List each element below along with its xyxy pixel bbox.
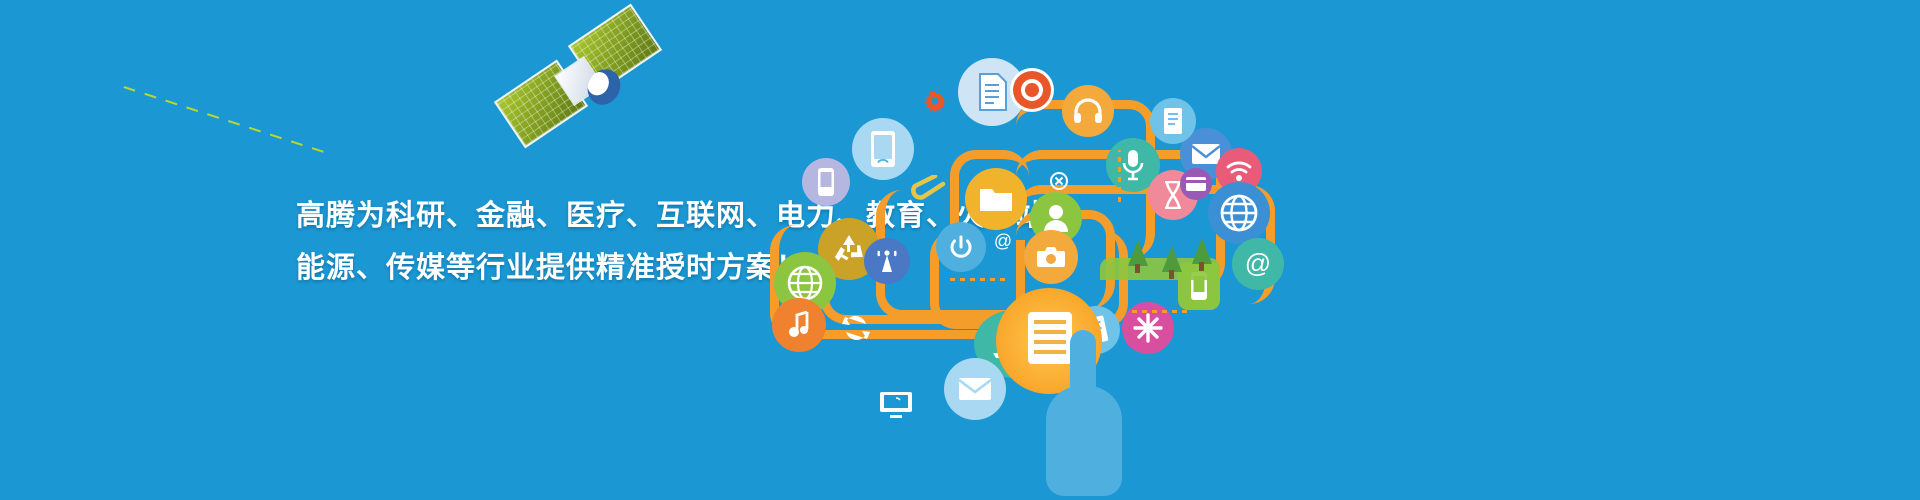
globe-icon[interactable] xyxy=(1208,182,1270,244)
tablet-wifi-icon[interactable] xyxy=(852,118,914,180)
close-x-icon[interactable] xyxy=(1046,168,1072,194)
satellite-illustration xyxy=(495,18,665,158)
signal-beam xyxy=(123,86,325,153)
credit-card-icon[interactable] xyxy=(1180,168,1212,200)
power-button-icon[interactable] xyxy=(936,222,986,272)
svg-text:@: @ xyxy=(994,231,1012,251)
pointing-hand xyxy=(1040,330,1130,500)
note-icon[interactable] xyxy=(1150,98,1196,144)
tree-trunk xyxy=(1199,262,1204,271)
mail-envelope-icon[interactable] xyxy=(944,358,1006,420)
refresh-sync-icon[interactable] xyxy=(836,308,876,348)
gear-icon[interactable] xyxy=(922,88,948,114)
dotted-connector xyxy=(950,278,1010,281)
fist xyxy=(1046,386,1122,496)
tree-trunk xyxy=(1169,270,1174,279)
music-note-icon[interactable] xyxy=(772,298,826,352)
paperclip-icon[interactable] xyxy=(908,168,952,208)
pine-tree-icon xyxy=(1162,246,1182,272)
dotted-connector xyxy=(1118,150,1121,202)
broadcast-tower-icon[interactable] xyxy=(864,238,910,284)
dotted-connector xyxy=(1132,310,1192,313)
svg-text:@: @ xyxy=(1245,249,1271,278)
settings-cog-icon[interactable] xyxy=(1010,68,1054,112)
at-sign-icon[interactable]: @ xyxy=(990,228,1016,254)
folder-icon[interactable] xyxy=(965,168,1027,230)
tree-trunk xyxy=(1135,264,1140,273)
pine-tree-icon xyxy=(1192,238,1212,264)
pine-tree-icon xyxy=(1128,240,1148,266)
smartphone-icon[interactable] xyxy=(802,158,850,206)
camera-icon[interactable] xyxy=(1024,230,1078,284)
headphones-icon[interactable] xyxy=(1062,85,1114,137)
hero-banner: 高腾为科研、金融、医疗、互联网、电力、教育、火车站、 能源、传媒等行业提供精准授… xyxy=(0,0,1920,500)
desktop-monitor-icon[interactable] xyxy=(876,388,916,422)
at-sign-icon[interactable]: @ xyxy=(1232,238,1284,290)
